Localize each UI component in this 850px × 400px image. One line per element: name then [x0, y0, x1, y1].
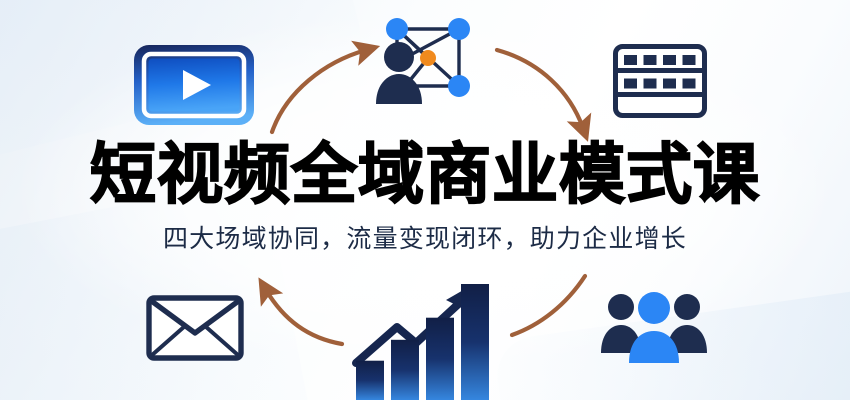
- user-left-head-icon: [608, 294, 634, 320]
- network-node-bottom-right: [448, 75, 470, 97]
- network-node-top-left: [386, 18, 408, 40]
- video-player-icon: [133, 44, 255, 126]
- network-hub-node: [420, 50, 436, 66]
- person-head-icon: [384, 42, 414, 72]
- bar-2: [391, 340, 419, 400]
- page-subtitle: 四大场域协同，流量变现闭环，助力企业增长: [0, 223, 850, 255]
- bar-4: [461, 284, 489, 400]
- bar-1: [356, 361, 384, 400]
- person-body-icon: [376, 74, 422, 104]
- bar-3: [426, 318, 454, 400]
- growth-bar-chart-icon: [350, 281, 502, 400]
- network-node-top-right: [448, 18, 470, 40]
- page-title: 短视频全域商业模式课: [0, 136, 850, 212]
- envelope-icon: [146, 295, 244, 361]
- network-graph-icon: [371, 8, 481, 108]
- title-block: 短视频全域商业模式课 四大场域协同，流量变现闭环，助力企业增长: [0, 136, 850, 255]
- user-group-icon: [600, 290, 708, 364]
- user-center-head-icon: [638, 292, 670, 324]
- user-center: [629, 292, 679, 363]
- server-rack-icon: [613, 44, 707, 118]
- course-banner: 短视频全域商业模式课 四大场域协同，流量变现闭环，助力企业增长: [0, 0, 850, 400]
- user-right-head-icon: [674, 294, 700, 320]
